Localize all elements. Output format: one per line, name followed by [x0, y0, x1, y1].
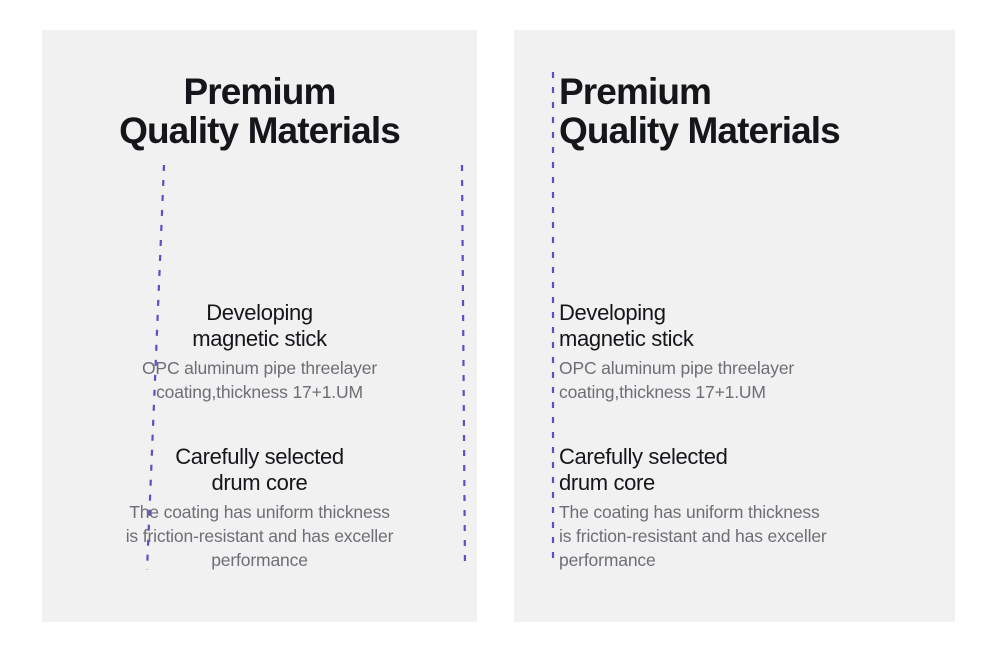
- title-line-2: Quality Materials: [42, 111, 477, 150]
- feature-title: Carefully selected drum core: [56, 444, 463, 495]
- feature-title-line-1: Carefully selected: [56, 444, 463, 470]
- feature-description-line-2: is friction-resistant and has exceller: [56, 525, 463, 549]
- feature-description: OPC aluminum pipe threelayer coating,thi…: [56, 357, 463, 404]
- feature-block-carefully-selected-drum-core: Carefully selected drum core The coating…: [56, 444, 463, 572]
- left-aligned-layout-panel: Premium Quality Materials Developing mag…: [514, 30, 955, 622]
- feature-description: OPC aluminum pipe threelayer coating,thi…: [559, 357, 941, 404]
- title-line-1: Premium: [559, 72, 937, 111]
- feature-title: Developing magnetic stick: [56, 300, 463, 351]
- feature-description-line-1: The coating has uniform thickness: [559, 501, 941, 525]
- page-title: Premium Quality Materials: [42, 72, 477, 150]
- feature-title-line-2: magnetic stick: [559, 326, 941, 352]
- feature-block-developing-magnetic-stick: Developing magnetic stick OPC aluminum p…: [56, 300, 463, 405]
- feature-description: The coating has uniform thickness is fri…: [559, 501, 941, 572]
- feature-title: Developing magnetic stick: [559, 300, 941, 351]
- feature-title-line-1: Developing: [56, 300, 463, 326]
- feature-title-line-2: drum core: [559, 470, 941, 496]
- feature-block-developing-magnetic-stick: Developing magnetic stick OPC aluminum p…: [559, 300, 941, 405]
- feature-description-line-3: performance: [559, 549, 941, 573]
- feature-description: The coating has uniform thickness is fri…: [56, 501, 463, 572]
- feature-description-line-1: The coating has uniform thickness: [56, 501, 463, 525]
- feature-title-line-2: magnetic stick: [56, 326, 463, 352]
- feature-block-carefully-selected-drum-core: Carefully selected drum core The coating…: [559, 444, 941, 572]
- feature-description-line-1: OPC aluminum pipe threelayer: [559, 357, 941, 381]
- centered-layout-panel: Premium Quality Materials Developing mag…: [42, 30, 477, 622]
- feature-description-line-3: performance: [56, 549, 463, 573]
- feature-title: Carefully selected drum core: [559, 444, 941, 495]
- page-title: Premium Quality Materials: [559, 72, 937, 150]
- feature-title-line-2: drum core: [56, 470, 463, 496]
- title-line-2: Quality Materials: [559, 111, 937, 150]
- feature-description-line-1: OPC aluminum pipe threelayer: [56, 357, 463, 381]
- feature-description-line-2: coating,thickness 17+1.UM: [56, 381, 463, 405]
- feature-description-line-2: is friction-resistant and has exceller: [559, 525, 941, 549]
- feature-title-line-1: Carefully selected: [559, 444, 941, 470]
- centered-panel-content: Premium Quality Materials Developing mag…: [42, 30, 477, 622]
- feature-description-line-2: coating,thickness 17+1.UM: [559, 381, 941, 405]
- feature-title-line-1: Developing: [559, 300, 941, 326]
- left-aligned-panel-content: Premium Quality Materials Developing mag…: [514, 30, 955, 622]
- comparison-canvas: Premium Quality Materials Developing mag…: [0, 0, 1000, 651]
- title-line-1: Premium: [42, 72, 477, 111]
